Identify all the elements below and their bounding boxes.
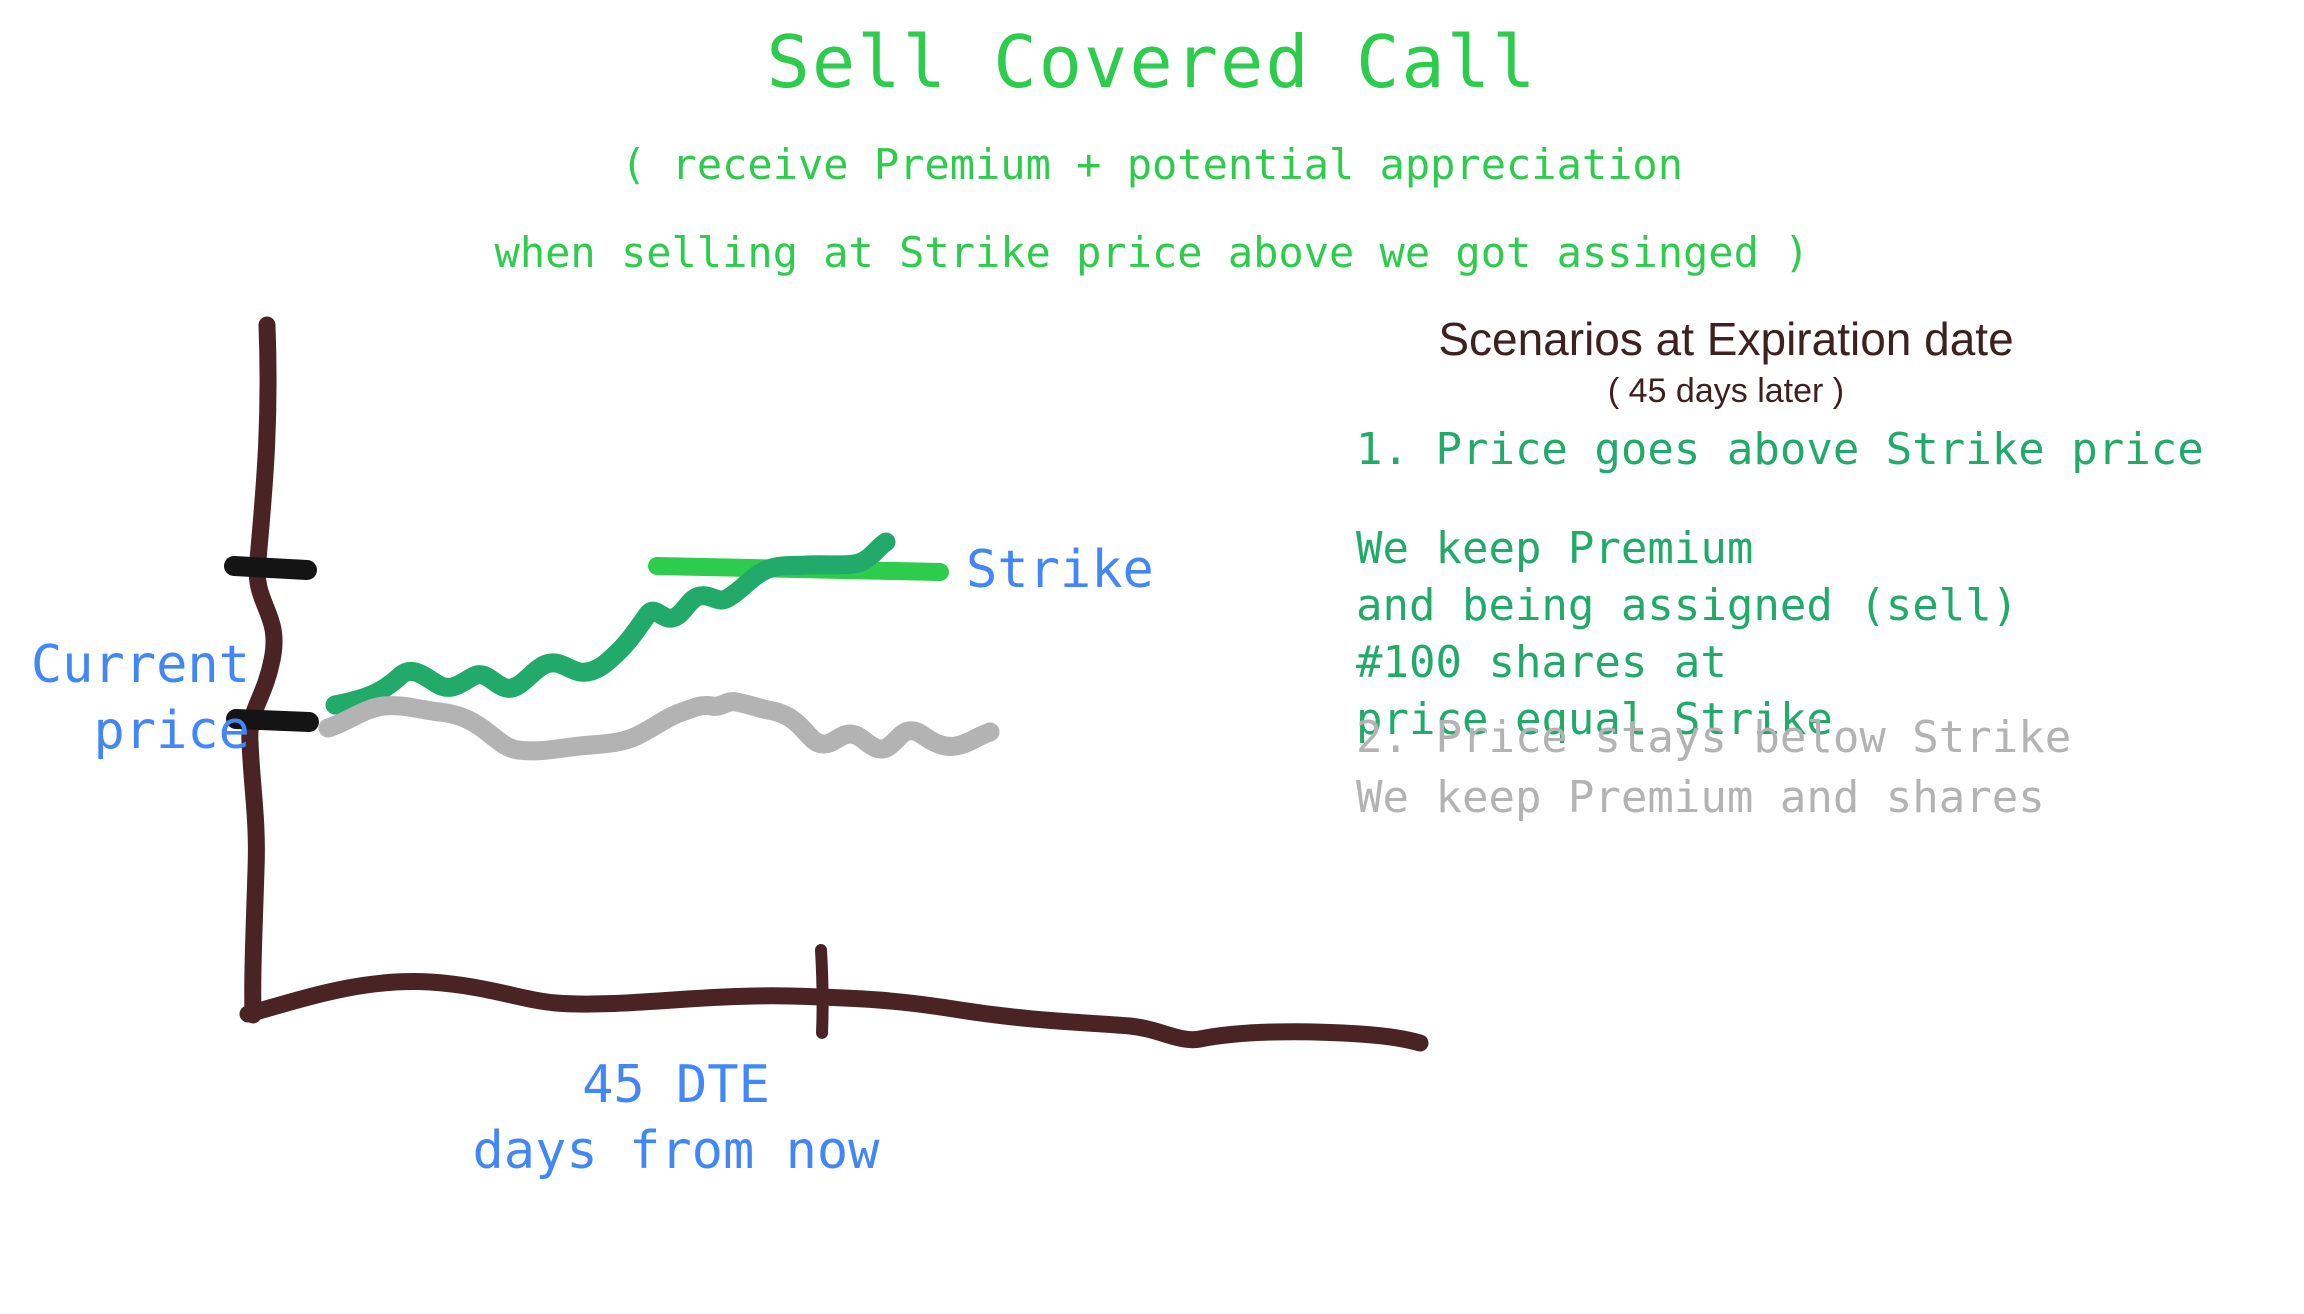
price-path-above-strike (335, 542, 886, 705)
scenario-2-heading: 2. Price stays below Strike (1356, 712, 2071, 763)
diagram-canvas: Sell Covered Call ( receive Premium + po… (0, 0, 2304, 1314)
y-axis (250, 325, 274, 1015)
x-axis-tick-45dte (821, 950, 823, 1033)
axis-label-dte: 45 DTE days from now (446, 1052, 906, 1184)
scenario-1-heading: 1. Price goes above Strike price (1356, 424, 2204, 475)
x-axis (248, 982, 1420, 1043)
price-path-below-strike (328, 702, 990, 751)
scenarios-panel: Scenarios at Expiration date ( 45 days l… (1356, 312, 2304, 411)
scenarios-subheading: ( 45 days later ) (1356, 372, 2096, 411)
y-axis-tick-strike (234, 566, 307, 570)
axis-label-current-price: Current price (0, 632, 250, 764)
scenario-2-body: We keep Premium and shares (1356, 769, 2045, 826)
axis-label-strike: Strike (966, 540, 1154, 600)
scenarios-heading: Scenarios at Expiration date (1356, 312, 2096, 366)
